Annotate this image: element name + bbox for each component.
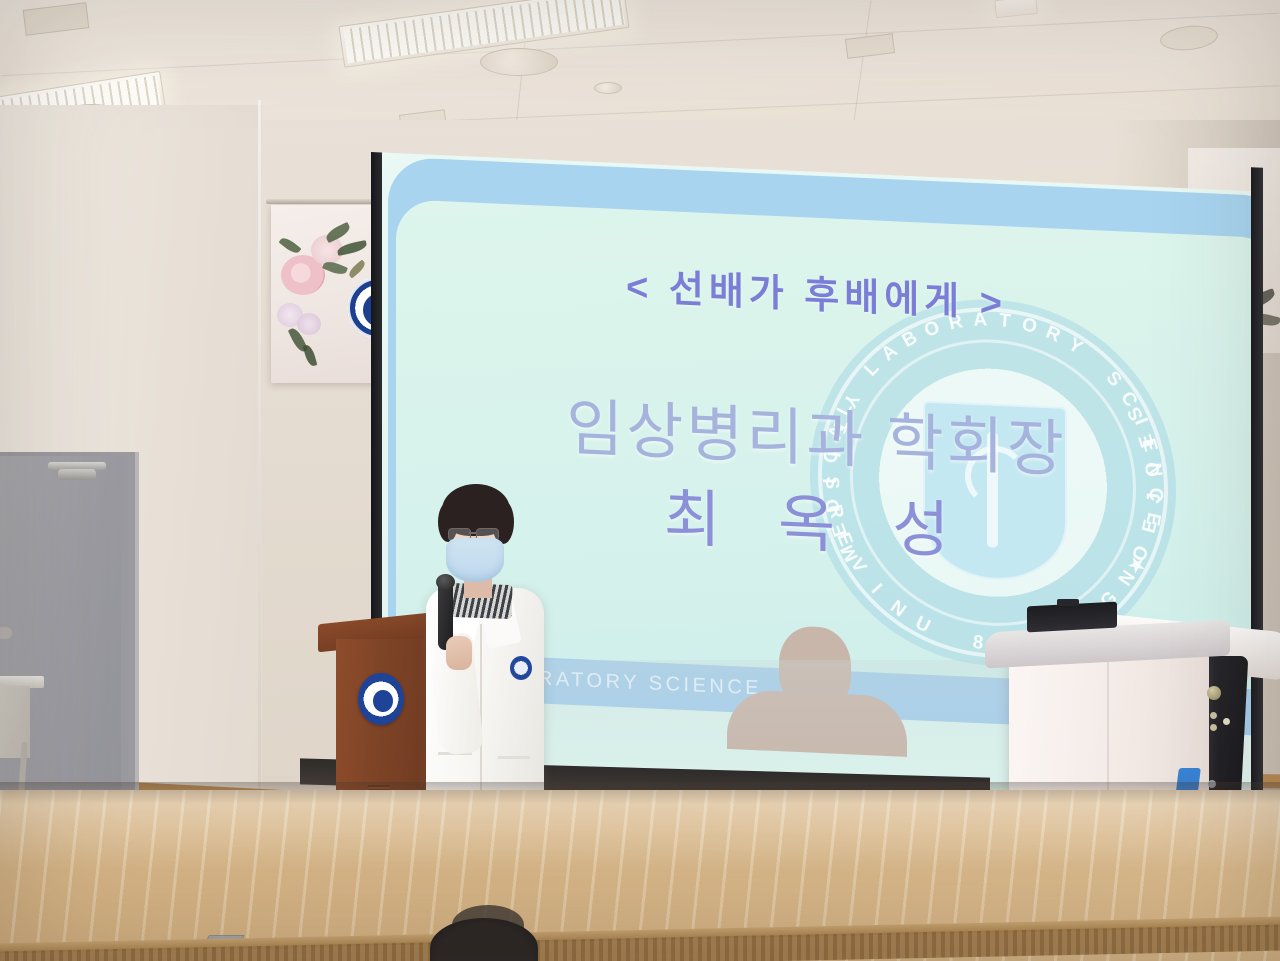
console-monitor-mount: [1057, 599, 1079, 606]
console-button[interactable]: [1210, 712, 1217, 719]
console-button[interactable]: [1223, 718, 1230, 725]
wall-corner: [258, 100, 261, 830]
floor-back-shadow: [0, 782, 1280, 804]
speaker-hand: [446, 636, 472, 670]
ceiling-speaker: [480, 48, 558, 76]
scene-root: y MEDICAL LABORATORY SCIENCE ★ SEOJEONG …: [0, 0, 1280, 961]
console-key-switch[interactable]: [1207, 686, 1221, 700]
microphone-head-icon: [436, 574, 455, 590]
console-button[interactable]: [1210, 724, 1217, 731]
podium-emblem: [358, 673, 404, 725]
console-monitor[interactable]: [1027, 602, 1117, 633]
lab-coat-pocket: [498, 756, 530, 759]
face-mask: [446, 538, 504, 582]
banner-rod: [266, 199, 384, 204]
floral-banner: [271, 205, 377, 383]
shoulder-patch-icon: [510, 656, 532, 680]
ceiling-sprinkler: [594, 82, 622, 94]
door-closer-arm: [58, 469, 96, 480]
door-handle[interactable]: [0, 627, 12, 639]
